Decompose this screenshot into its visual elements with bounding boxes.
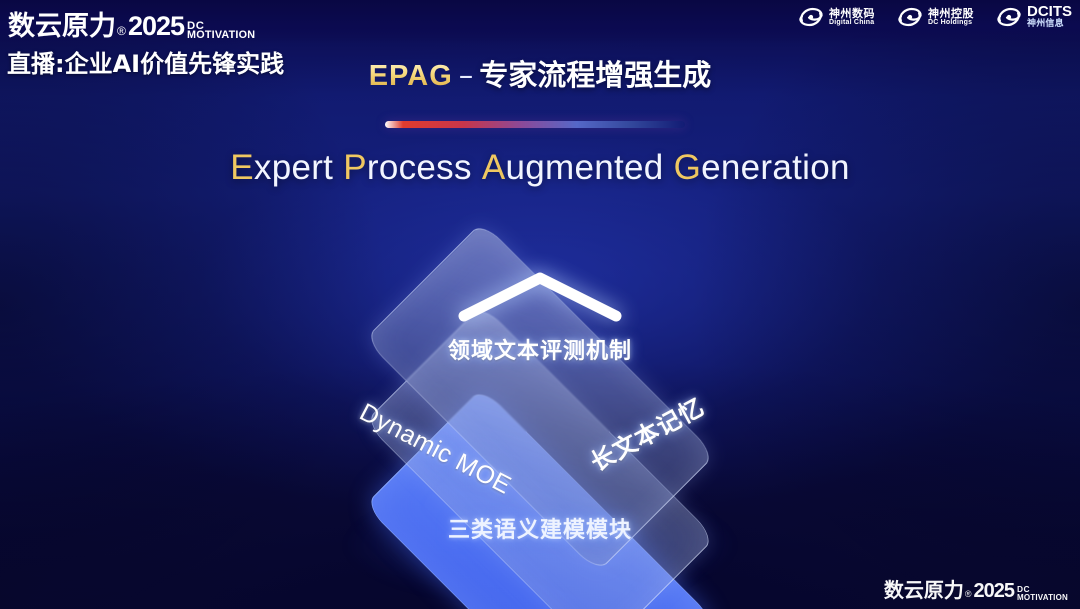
headline-acronym: EPAG (369, 60, 453, 92)
watermark-chinese-name: 数云原力 (884, 574, 964, 603)
brand-dc-line2: MOTIVATION (187, 31, 255, 41)
partner-name-cn: 神州控股 (928, 8, 974, 20)
brand-year: 2025 (128, 11, 184, 42)
partner-logo-group: 神州数码 Digital China 神州控股 DC Holdings (798, 4, 1072, 30)
partner-name-en: Digital China (829, 19, 875, 26)
partner-name-en: DCITS (1027, 4, 1072, 20)
subtitle-word-augmented: ugmented (505, 148, 663, 187)
subtitle-word-generation: eneration (701, 148, 850, 187)
partner-logo-text: 神州控股 DC Holdings (928, 8, 974, 27)
chevron-up-icon (452, 268, 628, 326)
partner-name-en: DC Holdings (928, 19, 974, 26)
subtitle-word-expert: xpert (254, 148, 333, 187)
swirl-icon (798, 4, 824, 30)
subtitle-initial-e: E (230, 148, 254, 187)
registered-trademark-icon: ® (965, 589, 972, 599)
watermark-year: 2025 (973, 580, 1014, 603)
subtitle-initial-g: G (674, 148, 702, 187)
swirl-icon (996, 4, 1022, 30)
swirl-icon (897, 4, 923, 30)
headline-chinese: 专家流程增强生成 (479, 58, 711, 92)
watermark-dc-line2: MOTIVATION (1017, 594, 1068, 601)
partner-logo-dc-holdings: 神州控股 DC Holdings (897, 4, 974, 30)
partner-logo-digital-china: 神州数码 Digital China (798, 4, 875, 30)
diagram-bottom-layer-label: 三类语义建模模块 (0, 512, 1080, 544)
partner-logo-text: DCITS 神州信息 (1027, 4, 1072, 29)
brand-dc-motivation: DC MOTIVATION (187, 21, 255, 43)
headline-divider (385, 121, 685, 128)
subtitle-initial-a: A (482, 148, 506, 187)
diagram-top-layer-label: 领域文本评测机制 (0, 333, 1080, 365)
partner-logo-dcits: DCITS 神州信息 (996, 4, 1072, 30)
watermark-brand-logo: 数云原力 ® 2025 DC MOTIVATION (884, 574, 1068, 603)
registered-trademark-icon: ® (117, 24, 126, 38)
brand-chinese-name: 数云原力 (8, 4, 116, 43)
event-brand-logo: 数云原力 ® 2025 DC MOTIVATION (8, 4, 255, 43)
watermark-dc-motivation: DC MOTIVATION (1017, 586, 1068, 603)
partner-name-cn: 神州数码 (829, 8, 875, 20)
live-stream-title: 直播:企业AI价值先锋实践 (7, 44, 284, 79)
subtitle-word-process: rocess (367, 148, 472, 187)
partner-name-cn: 神州信息 (1027, 20, 1072, 29)
slide-canvas: 数云原力 ® 2025 DC MOTIVATION 直播:企业AI价值先锋实践 … (0, 0, 1080, 609)
headline-dash: – (459, 58, 474, 92)
partner-logo-text: 神州数码 Digital China (829, 8, 875, 27)
subtitle-initial-p: P (343, 148, 367, 187)
slide-subtitle: Expert Process Augmented Generation (0, 148, 1080, 188)
